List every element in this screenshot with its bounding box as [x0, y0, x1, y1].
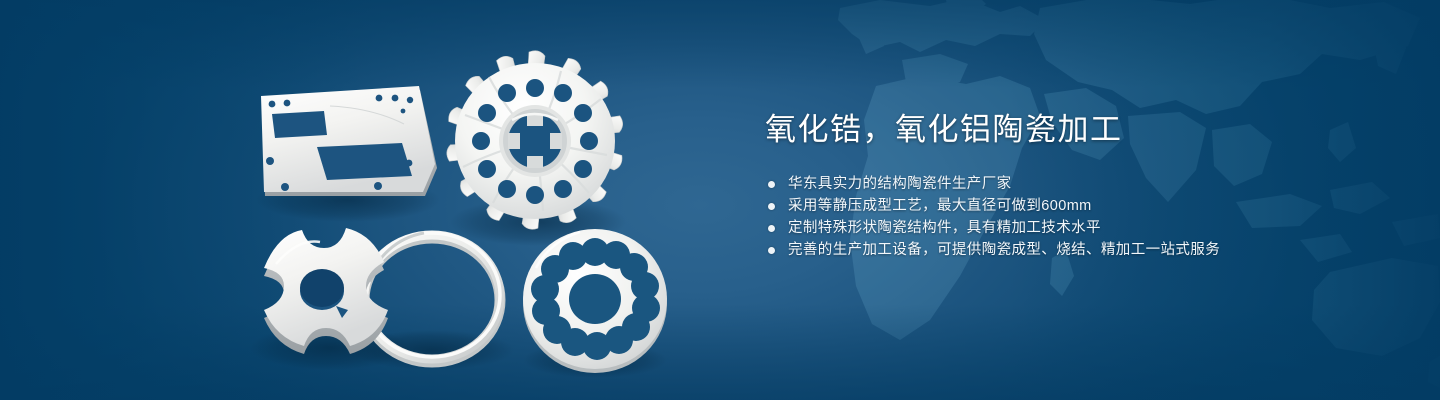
feature-list: 华东具实力的结构陶瓷件生产厂家 采用等静压成型工艺，最大直径可做到600mm 定…: [768, 174, 1385, 261]
product-perforated-ceramic-disc: [523, 229, 667, 373]
banner-copy: 氧化锆，氧化铝陶瓷加工 华东具实力的结构陶瓷件生产厂家 采用等静压成型工艺，最大…: [765, 108, 1385, 262]
promo-banner: 氧化锆，氧化铝陶瓷加工 华东具实力的结构陶瓷件生产厂家 采用等静压成型工艺，最大…: [0, 0, 1440, 400]
feature-text: 定制特殊形状陶瓷结构件，具有精加工技术水平: [788, 218, 1101, 239]
list-item: 华东具实力的结构陶瓷件生产厂家: [768, 174, 1385, 195]
product-machined-ceramic-plate: [261, 86, 437, 196]
list-item: 采用等静压成型工艺，最大直径可做到600mm: [768, 196, 1385, 217]
feature-text: 采用等静压成型工艺，最大直径可做到600mm: [788, 196, 1092, 217]
bullet-dot-icon: [768, 247, 775, 254]
product-ceramic-impeller: [445, 51, 624, 230]
page-title: 氧化锆，氧化铝陶瓷加工: [765, 108, 1385, 152]
bullet-dot-icon: [768, 225, 775, 232]
ceramic-products-image: [0, 0, 720, 400]
feature-text: 华东具实力的结构陶瓷件生产厂家: [788, 174, 1012, 195]
list-item: 定制特殊形状陶瓷结构件，具有精加工技术水平: [768, 218, 1385, 239]
bullet-dot-icon: [768, 203, 775, 210]
list-item: 完善的生产加工设备，可提供陶瓷成型、烧结、精加工一站式服务: [768, 240, 1385, 261]
bullet-dot-icon: [768, 181, 775, 188]
feature-text: 完善的生产加工设备，可提供陶瓷成型、烧结、精加工一站式服务: [788, 240, 1220, 261]
